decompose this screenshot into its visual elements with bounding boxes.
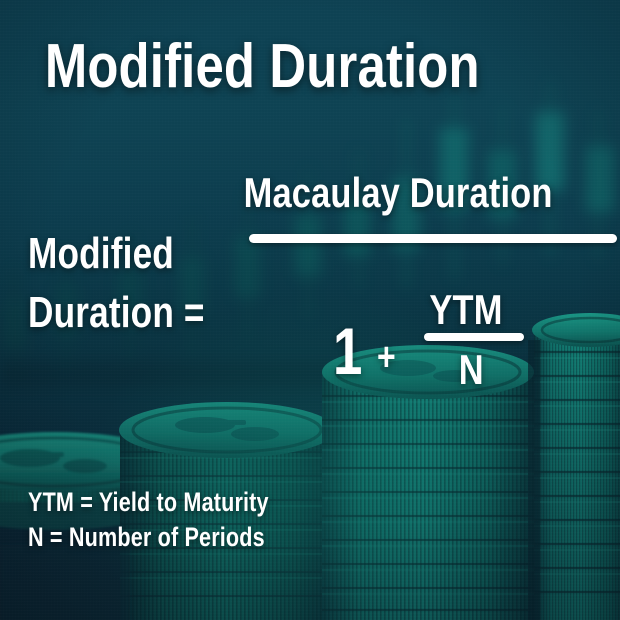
denominator-one: 1 [333,318,363,384]
page-title: Modified Duration [45,36,480,98]
formula-numerator: Macaulay Duration [244,172,553,214]
inner-fraction-bar [424,333,524,341]
formula-left-line-2: Duration = [28,291,205,335]
formula-left-line-1: Modified [28,232,174,276]
inner-fraction-denominator: N [459,349,484,391]
legend-item-n: N = Number of Periods [28,524,265,551]
infographic-canvas: Modified Duration Modified Duration = Ma… [0,0,620,620]
denominator-plus-sign: + [377,337,396,377]
inner-fraction-numerator: YTM [429,289,502,331]
legend-item-ytm: YTM = Yield to Maturity [28,489,269,516]
main-fraction-bar [249,234,617,243]
